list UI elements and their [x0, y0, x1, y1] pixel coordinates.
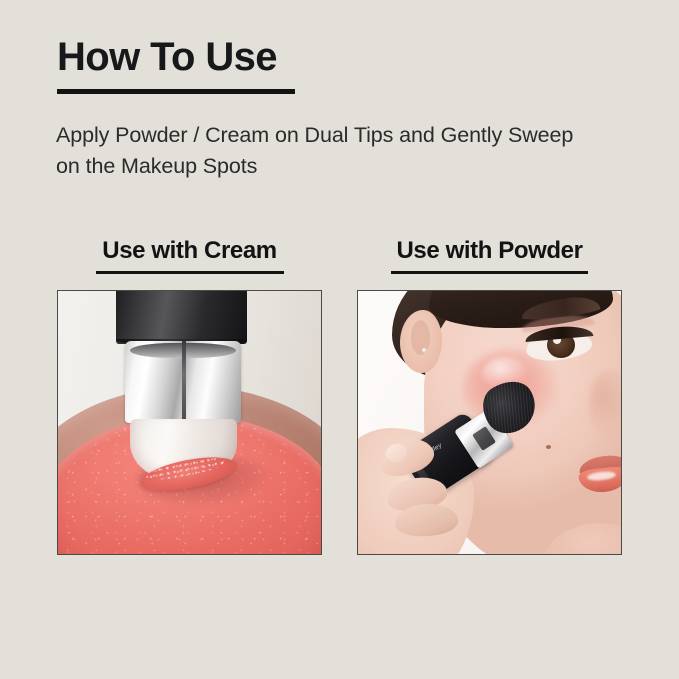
photo-powder-application: Sudley: [358, 291, 621, 554]
page-subtitle: Apply Powder / Cream on Dual Tips and Ge…: [56, 120, 596, 182]
photo-cream-application: [58, 291, 321, 554]
photo-frame-cream: [57, 290, 322, 555]
product-black-barrel: [116, 291, 248, 344]
page-title: How To Use: [57, 36, 277, 78]
section-heading-cream: Use with Cream: [102, 238, 276, 264]
section-use-with-cream: Use with Cream Put Cream-Type Product on…: [57, 238, 322, 555]
model-ear-inner: [411, 320, 431, 354]
section-heading-rule-powder: [391, 271, 588, 274]
section-heading-wrap-powder: Use with Powder: [357, 238, 622, 274]
section-use-with-powder: Use with Powder: [357, 238, 622, 555]
nose-shading: [589, 370, 621, 438]
photo-frame-powder: Sudley: [357, 290, 622, 555]
product-collar-seam: [182, 341, 186, 423]
section-heading-powder: Use with Powder: [396, 238, 582, 264]
section-heading-wrap-cream: Use with Cream: [57, 238, 322, 274]
section-heading-rule-cream: [96, 271, 284, 274]
title-underline-rule: [57, 89, 295, 94]
